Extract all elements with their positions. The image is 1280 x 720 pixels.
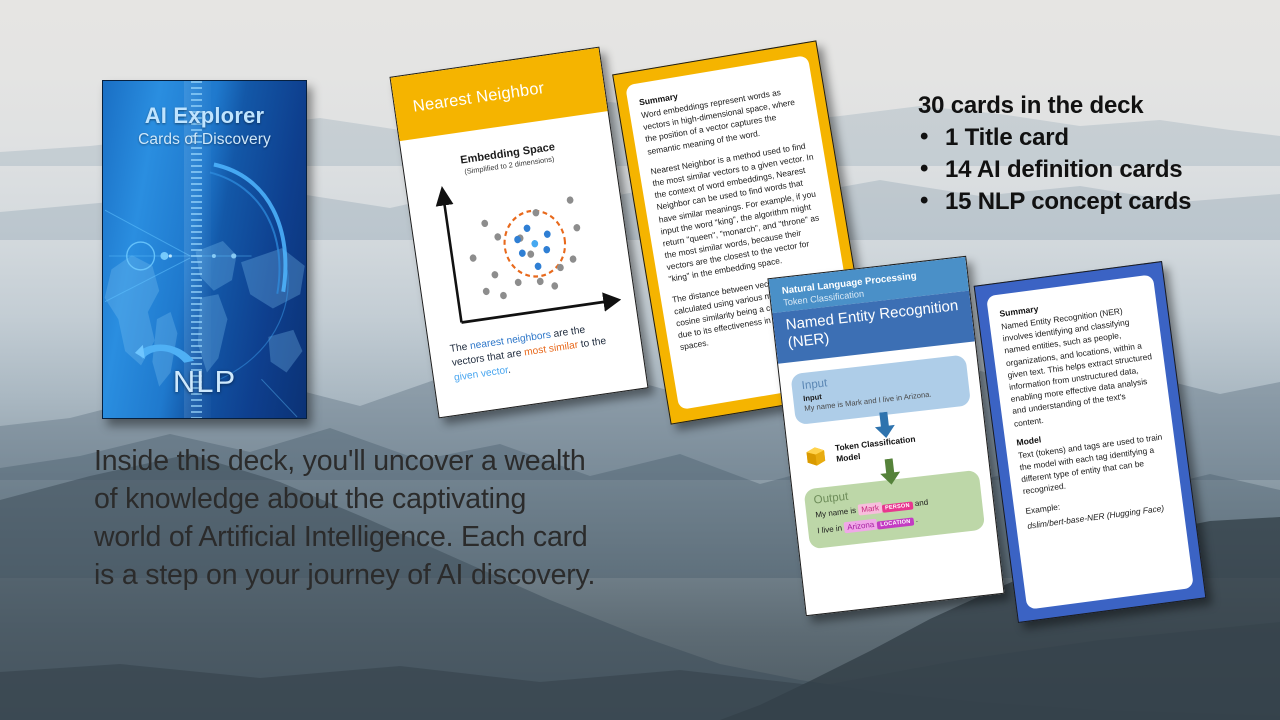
ner-output-line1-pre: My name is: [815, 506, 857, 520]
cube-icon: [803, 443, 830, 470]
deck-description-line: of knowledge about the captivating: [94, 481, 694, 519]
deck-stats-list: 1 Title card 14 AI definition cards 15 N…: [918, 122, 1258, 218]
ner-output-line1-post: and: [914, 498, 928, 508]
deck-stats: 30 cards in the deck 1 Title card 14 AI …: [918, 92, 1258, 218]
deck-description-line: Inside this deck, you'll uncover a wealt…: [94, 443, 694, 481]
title-card-surface: AI Explorer Cards of Discovery NLP: [102, 80, 307, 419]
ner-tag-location: LOCATION: [877, 517, 914, 529]
deck-stats-heading: 30 cards in the deck: [918, 92, 1258, 120]
deck-stats-item: 14 AI definition cards: [918, 154, 1258, 186]
embedding-space-scatter-plot: [419, 161, 625, 338]
deck-stats-item: 15 NLP concept cards: [918, 186, 1258, 218]
deck-description-line: is a step on your journey of AI discover…: [94, 557, 694, 595]
title-card-footer: NLP: [103, 364, 306, 400]
nearest-neighbor-title: Nearest Neighbor: [394, 79, 546, 119]
ner-entity-person: Mark: [858, 502, 883, 516]
ner-card[interactable]: Natural Language Processing Token Classi…: [767, 256, 1004, 616]
ner-output-line2-post: .: [915, 515, 918, 524]
ner-output-line2-pre: I live in: [817, 523, 843, 535]
deck-description-paragraph: Inside this deck, you'll uncover a wealt…: [94, 443, 694, 595]
caption-fragment: to the: [577, 336, 607, 351]
title-card-title: AI Explorer: [103, 103, 306, 129]
ner-diagram: Input Input My name is Mark and I live i…: [778, 341, 996, 551]
ner-entity-location: Arizona: [844, 518, 878, 533]
ner-tag-person: PERSON: [882, 501, 914, 512]
deck-stats-item: 1 Title card: [918, 122, 1258, 154]
caption-fragment: .: [507, 365, 511, 376]
caption-fragment: The: [449, 341, 471, 355]
deck-description-line: world of Artificial Intelligence. Each c…: [94, 519, 694, 557]
ner-summary-sheet: Summary Named Entity Recognition (NER) i…: [986, 274, 1194, 609]
nearest-neighbor-body: Embedding Space (Simplified to 2 dimensi…: [400, 111, 648, 417]
title-card[interactable]: AI Explorer Cards of Discovery NLP: [102, 80, 307, 419]
title-card-subtitle: Cards of Discovery: [103, 131, 306, 149]
ridge-foreground: [0, 600, 1280, 720]
ner-summary-text: Named Entity Recognition (NER) involves …: [1000, 302, 1159, 430]
summary-paragraph-2: Nearest Neighbor is a method used to fin…: [650, 138, 831, 285]
